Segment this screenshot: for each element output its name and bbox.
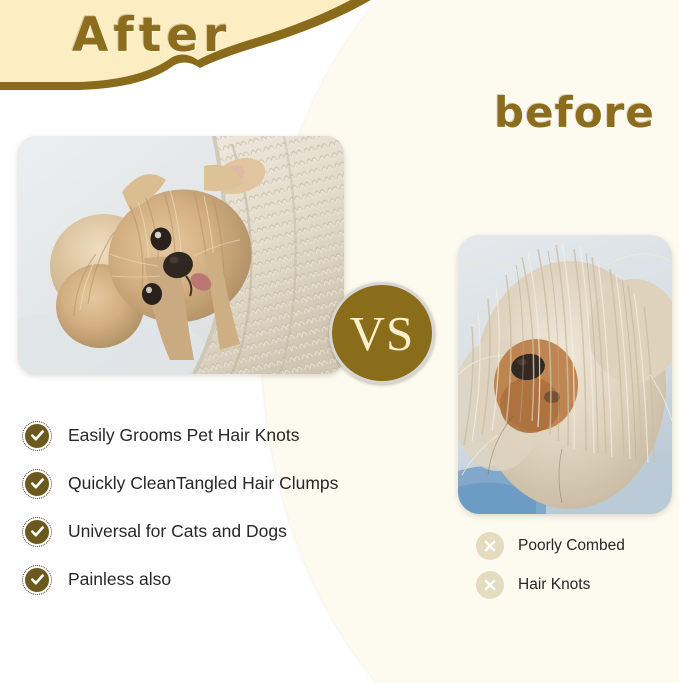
list-item: Poorly Combed (476, 528, 666, 564)
check-icon (22, 565, 52, 595)
benefit-label: Easily Grooms Pet Hair Knots (68, 425, 299, 446)
comparison-infographic: VS After before Easily Grooms Pet Hair K… (0, 0, 679, 683)
check-icon (22, 517, 52, 547)
list-item: Hair Knots (476, 567, 666, 603)
vs-label: VS (350, 309, 415, 358)
benefit-label: Quickly CleanTangled Hair Clumps (68, 473, 338, 494)
vs-badge: VS (329, 282, 435, 384)
after-heading: After (72, 8, 231, 63)
cross-icon (476, 571, 504, 599)
before-heading: before (494, 88, 655, 137)
list-item: Painless also (22, 556, 372, 603)
list-item: Quickly CleanTangled Hair Clumps (22, 460, 372, 507)
check-icon (22, 469, 52, 499)
problems-list: Poorly Combed Hair Knots (476, 528, 666, 606)
benefit-label: Universal for Cats and Dogs (68, 521, 287, 542)
list-item: Universal for Cats and Dogs (22, 508, 372, 555)
list-item: Easily Grooms Pet Hair Knots (22, 412, 372, 459)
ungroomed-dog-photo (458, 235, 672, 514)
problem-label: Poorly Combed (518, 537, 625, 555)
problem-label: Hair Knots (518, 576, 590, 594)
groomed-dog-photo (18, 136, 344, 374)
check-icon (22, 421, 52, 451)
cross-icon (476, 532, 504, 560)
benefits-list: Easily Grooms Pet Hair Knots Quickly Cle… (22, 412, 372, 604)
benefit-label: Painless also (68, 569, 171, 590)
